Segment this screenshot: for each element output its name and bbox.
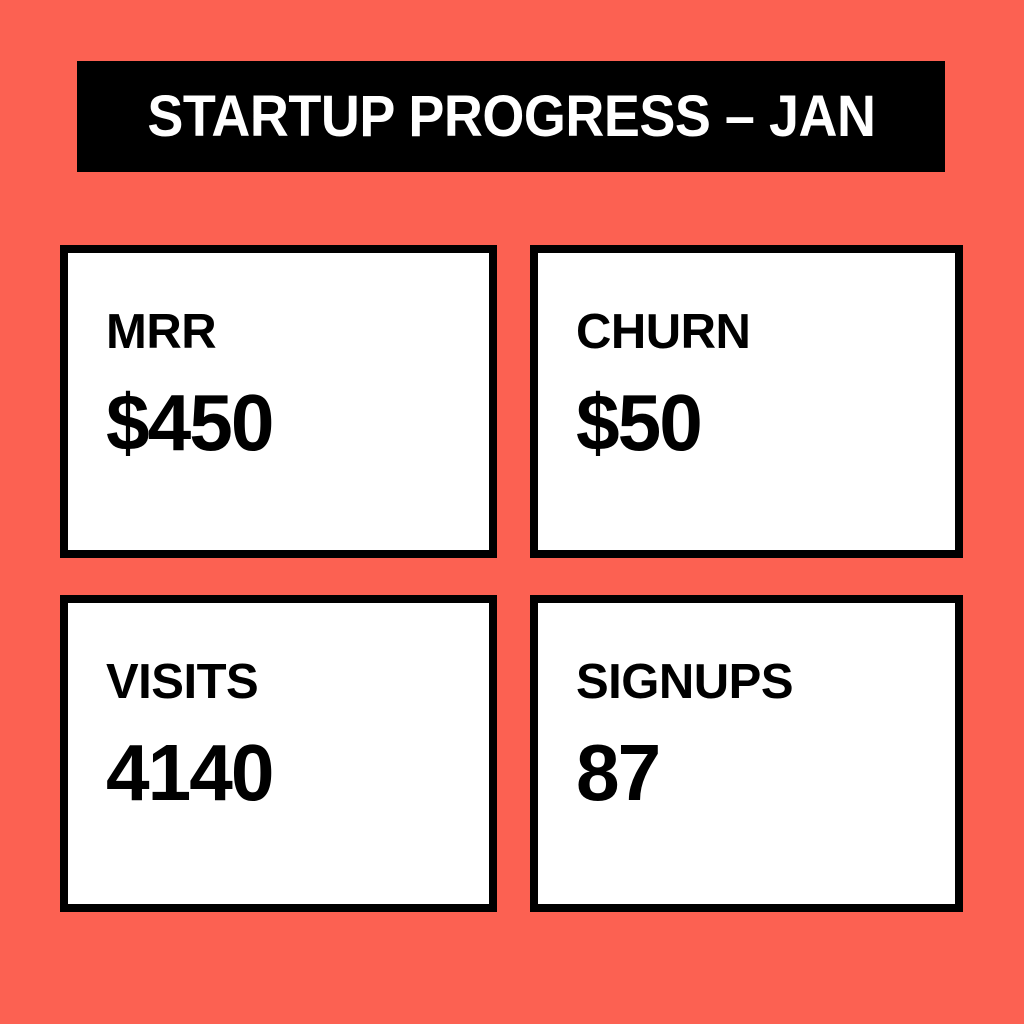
metric-label: SIGNUPS [576,658,793,707]
page-title: STARTUP PROGRESS – JAN [147,88,875,146]
metric-value: 4140 [106,733,273,813]
title-bar: STARTUP PROGRESS – JAN [77,61,945,172]
startup-progress-poster: STARTUP PROGRESS – JAN MRR $450 CHURN $5… [0,0,1024,1024]
metric-value: $50 [576,383,701,463]
metric-card-churn[interactable]: CHURN $50 [530,245,963,558]
metric-value: 87 [576,733,659,813]
metric-card-mrr[interactable]: MRR $450 [60,245,497,558]
metric-label: MRR [106,308,216,357]
metric-card-signups[interactable]: SIGNUPS 87 [530,595,963,912]
metric-label: VISITS [106,658,258,707]
metric-card-grid: MRR $450 CHURN $50 VISITS 4140 SIGNUPS 8… [60,245,963,912]
metric-card-visits[interactable]: VISITS 4140 [60,595,497,912]
metric-value: $450 [106,383,273,463]
metric-label: CHURN [576,308,750,357]
